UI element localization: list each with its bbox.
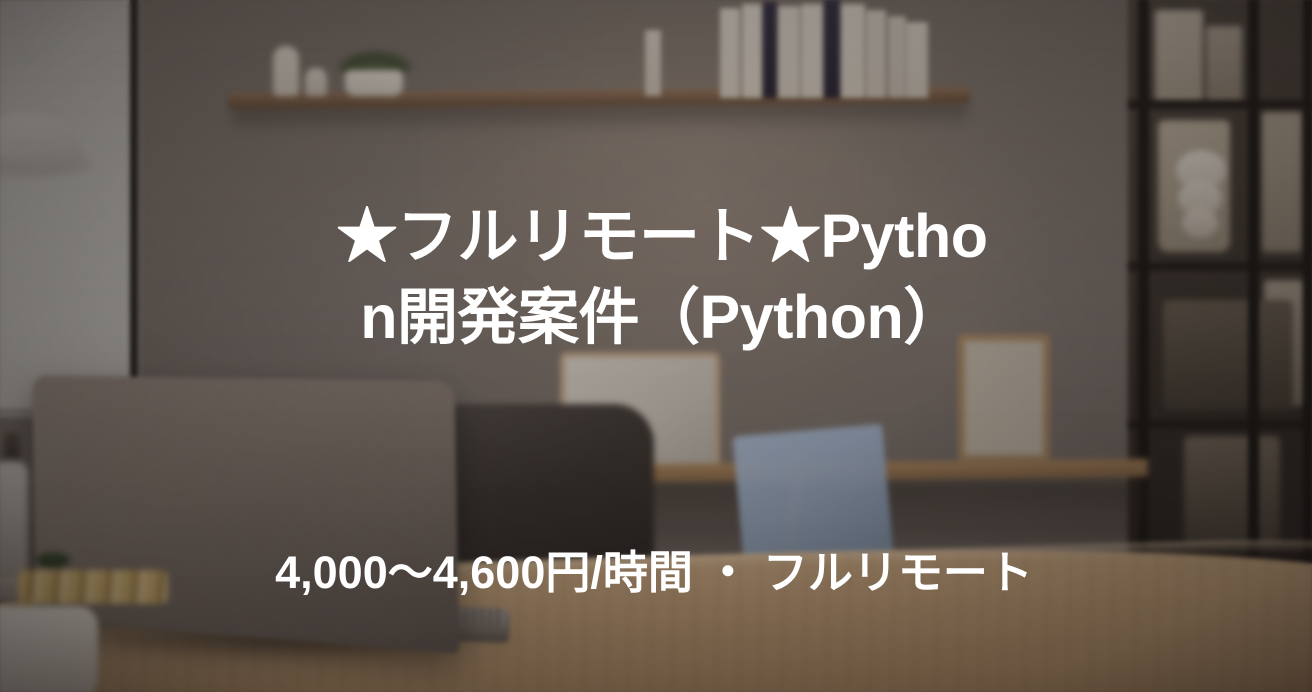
shelving-rail: [1128, 420, 1312, 429]
job-posting-banner: ★フルリモート★Python開発案件（Python） 4,000〜4,600円/…: [0, 0, 1312, 692]
banner-headline: ★フルリモート★Python開発案件（Python）: [0, 196, 1312, 357]
leaning-canvas: [733, 424, 894, 567]
shelf-vase-tall: [273, 46, 299, 96]
shelf-book: [778, 6, 800, 98]
shelf-vase-small: [305, 68, 327, 96]
shelving-item: [1206, 26, 1242, 102]
shelving-box: [1184, 436, 1280, 542]
coffee-mug: [0, 606, 98, 692]
shelf-book: [888, 16, 906, 98]
shelf-book: [742, 4, 762, 98]
shelf-book: [801, 4, 823, 98]
shelf-book: [824, 0, 840, 98]
shelf-book: [841, 4, 865, 98]
shelving-rail: [1128, 100, 1312, 109]
shelf-book: [720, 8, 740, 98]
shelf-planter: [345, 70, 403, 96]
laptop-lid: [32, 375, 459, 653]
shelf-book: [645, 30, 661, 96]
shelf-book: [906, 22, 928, 98]
shelving-item: [1155, 10, 1203, 102]
banner-subline: 4,000〜4,600円/時間 ・ フルリモート: [0, 546, 1312, 600]
shelf-book: [866, 10, 886, 98]
shelf-book: [763, 2, 777, 98]
